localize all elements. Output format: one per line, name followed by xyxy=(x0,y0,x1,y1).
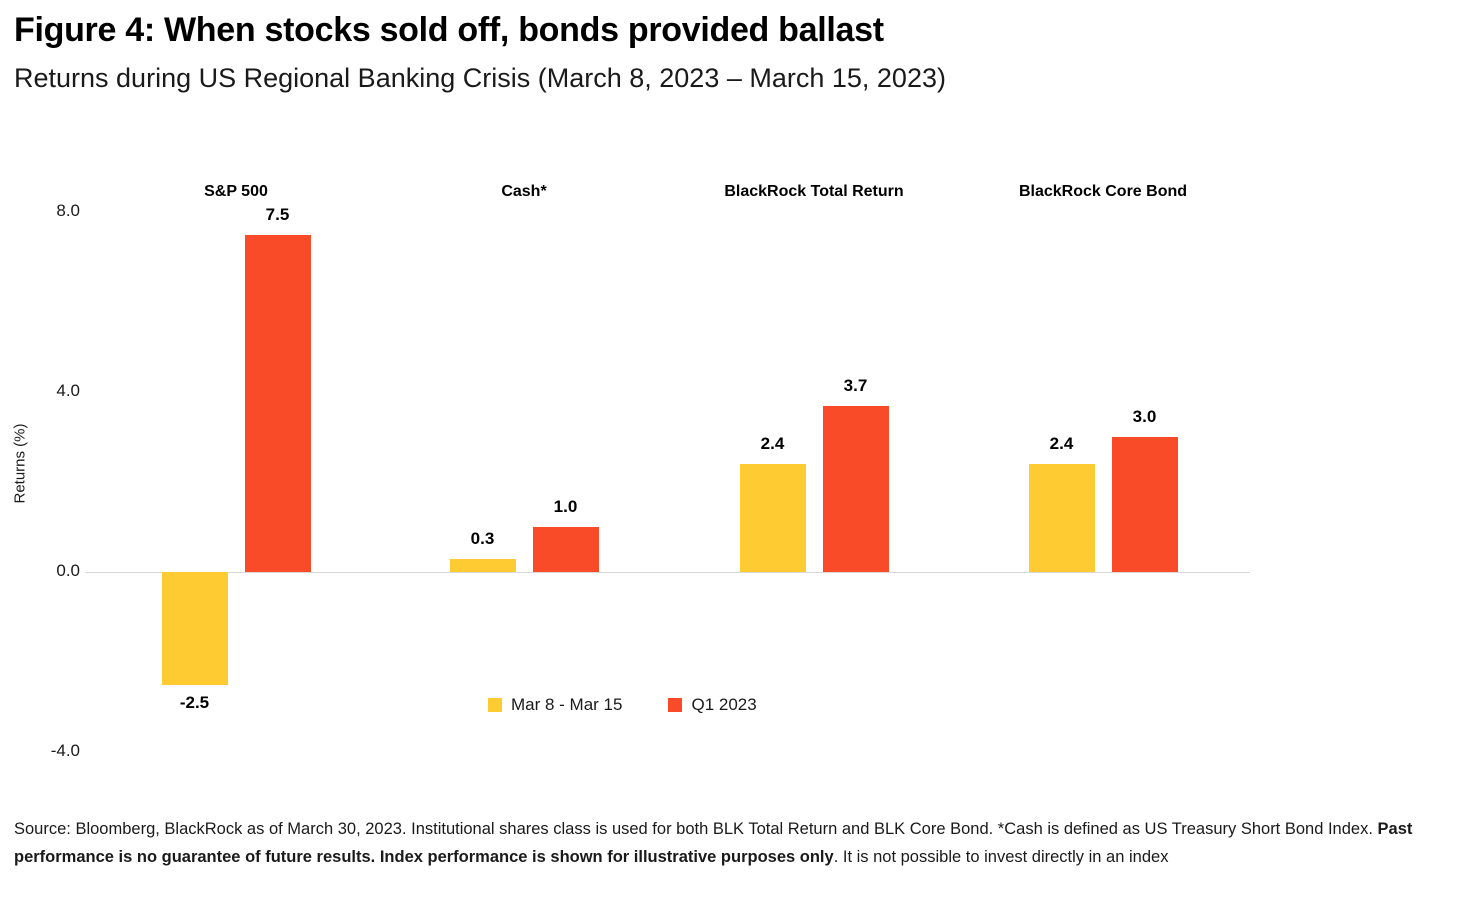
legend-label: Mar 8 - Mar 15 xyxy=(511,695,622,715)
zero-baseline xyxy=(85,572,1250,573)
bar xyxy=(245,235,311,573)
chart-plot-area: Returns (%) 8.04.00.0-4.0 S&P 500Cash*Bl… xyxy=(0,0,1462,800)
category-header: BlackRock Core Bond xyxy=(903,183,1303,201)
legend-swatch-icon xyxy=(488,698,502,712)
y-axis-tick-label: 4.0 xyxy=(20,381,80,401)
bar-value-label: -2.5 xyxy=(122,693,268,713)
legend-item[interactable]: Mar 8 - Mar 15 xyxy=(488,695,622,715)
bar xyxy=(533,527,599,572)
y-axis-tick-label: 0.0 xyxy=(20,561,80,581)
chart-legend: Mar 8 - Mar 15Q1 2023 xyxy=(488,695,757,715)
bar-value-label: 3.0 xyxy=(1072,407,1218,427)
legend-item[interactable]: Q1 2023 xyxy=(668,695,756,715)
bar xyxy=(450,559,516,573)
bar xyxy=(1112,437,1178,572)
bar xyxy=(740,464,806,572)
bar-value-label: 7.5 xyxy=(205,205,351,225)
footnote-part-2: . It is not possible to invest directly … xyxy=(834,848,1169,866)
bar xyxy=(823,406,889,573)
legend-label: Q1 2023 xyxy=(691,695,756,715)
bar-value-label: 1.0 xyxy=(493,497,639,517)
y-axis-tick-label: 8.0 xyxy=(20,201,80,221)
y-axis-tick-label: -4.0 xyxy=(20,741,80,761)
footnote: Source: Bloomberg, BlackRock as of March… xyxy=(14,815,1446,872)
bar-value-label: 3.7 xyxy=(783,376,929,396)
legend-swatch-icon xyxy=(668,698,682,712)
footnote-part-1: Source: Bloomberg, BlackRock as of March… xyxy=(14,820,1378,838)
bar xyxy=(162,572,228,685)
y-axis-title: Returns (%) xyxy=(12,404,29,524)
bar xyxy=(1029,464,1095,572)
